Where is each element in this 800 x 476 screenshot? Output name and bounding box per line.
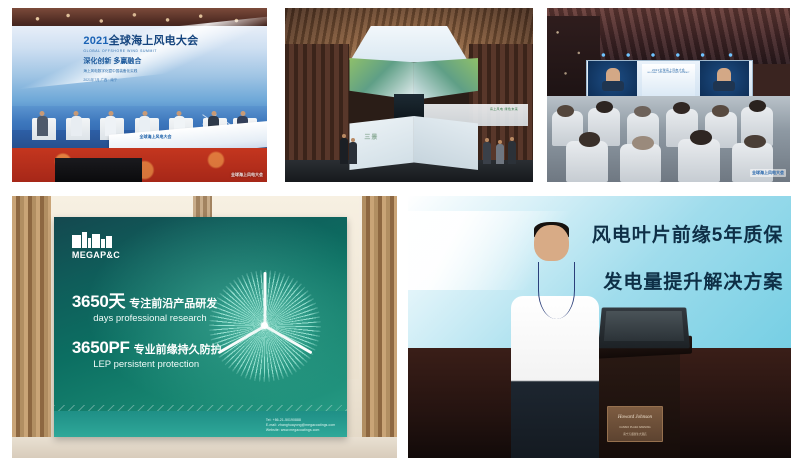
summit-banner-text: 2021全球海上风电大会 GLOBAL OFFSHORE WIND SUMMIT… (83, 36, 251, 82)
contact-website: Website: www.megacoatings.com (266, 428, 335, 433)
booth-sign-text: 海上风电 绿色未来 (490, 107, 518, 111)
presenter-laptop (598, 307, 690, 348)
presenter-figure (511, 296, 599, 458)
photo-collage-page: 2021全球海上风电大会 GLOBAL OFFSHORE WIND SUMMIT… (0, 0, 800, 476)
presenter-lanyard (538, 262, 574, 320)
banner-title-en: GLOBAL OFFSHORE WIND SUMMIT (83, 49, 251, 53)
banner-date-place: 2021年7月 广西 · 南宁 (83, 77, 251, 82)
claim-block-2: 3650PF 专业前缘持久防护 LEP persistent protectio… (72, 338, 224, 370)
slide-light-beam (408, 211, 615, 290)
claim-block-1: 3650天 专注前沿产品研发 days professional researc… (72, 287, 224, 324)
plaque-line-3: 南宁万盛豪生大酒店 (608, 432, 662, 436)
cube-base-right-panel (414, 116, 478, 170)
banner-title: 2021全球海上风电大会 (83, 36, 251, 48)
plaque-brand: Howard Johnson (608, 415, 662, 420)
curtain-right (362, 196, 397, 448)
stage-speaker-box (55, 158, 142, 182)
lighting-truss (591, 52, 747, 58)
presenter-head (534, 225, 568, 262)
cube-base-logo-text: 三景 (364, 132, 378, 141)
booth-contact-block: Tel: +86-21-50190888 E-mail: zhanghuayon… (266, 418, 335, 433)
stage-logo-text: 全球海上风电大会 (140, 134, 172, 140)
building-mark-icon (72, 232, 148, 248)
megapc-logo-text: MEGAP&C (72, 250, 148, 260)
photo-speaker-podium[interactable]: 风电叶片前缘5年质保 发电量提升解决方案 Howard Johnson CASI… (408, 196, 791, 458)
contact-email: E-mail: zhanghuayong@megacoatings.com (266, 423, 335, 428)
led-cube-stem (394, 94, 424, 120)
booth-claims: 3650天 专注前沿产品研发 days professional researc… (72, 287, 224, 370)
hotel-plaque: Howard Johnson CASINO PLAZA NANNING 南宁万盛… (607, 406, 663, 442)
claim-2-number: 3650PF (72, 338, 130, 358)
screen-slide-title: 2021全球海上风电大会 GLOBAL OFFSHORE WIND SUMMIT (644, 68, 693, 74)
wind-turbine-rotor-graphic (209, 270, 321, 382)
plaque-line-2: CASINO PLAZA NANNING (608, 426, 662, 429)
cube-base-left-panel (349, 116, 413, 170)
photo-panel-discussion[interactable]: 2021全球海上风电大会 GLOBAL OFFSHORE WIND SUMMIT… (12, 8, 267, 182)
megapc-logo: MEGAP&C (72, 232, 148, 260)
photo-led-cube[interactable]: 海上风电 绿色未来 三景 (285, 8, 533, 182)
booth-floor (12, 437, 397, 458)
slide-headline-2: 发电量提升解决方案 (603, 267, 783, 294)
claim-1-en: days professional research (93, 313, 224, 324)
megapc-backdrop-board: MEGAP&C 3650天 专注前沿产品研发 days professional… (54, 217, 347, 437)
screen-speaker-right (700, 61, 749, 101)
claim-1-cn: 专注前沿产品研发 (129, 295, 217, 311)
curtain-left (12, 196, 51, 448)
screen-speaker-left (588, 61, 637, 101)
slide-headline-1: 风电叶片前缘5年质保 (592, 220, 784, 247)
summit-watermark: 全球海上风电大会 (231, 172, 263, 178)
photo-megapc-booth[interactable]: MEGAP&C 3650天 专注前沿产品研发 days professional… (12, 196, 397, 458)
banner-slogan: 深化创新 多赢融合 (83, 56, 251, 66)
claim-2-en: LEP persistent protection (93, 359, 224, 370)
claim-1-number: 3650天 (72, 287, 125, 312)
photo-plenary-hall[interactable]: 2021全球海上风电大会 GLOBAL OFFSHORE WIND SUMMIT (547, 8, 790, 182)
summit-watermark: 全球海上风电大会 (750, 169, 786, 177)
banner-theme: 海上风电数字化暨中国装备化实践 (83, 69, 251, 74)
